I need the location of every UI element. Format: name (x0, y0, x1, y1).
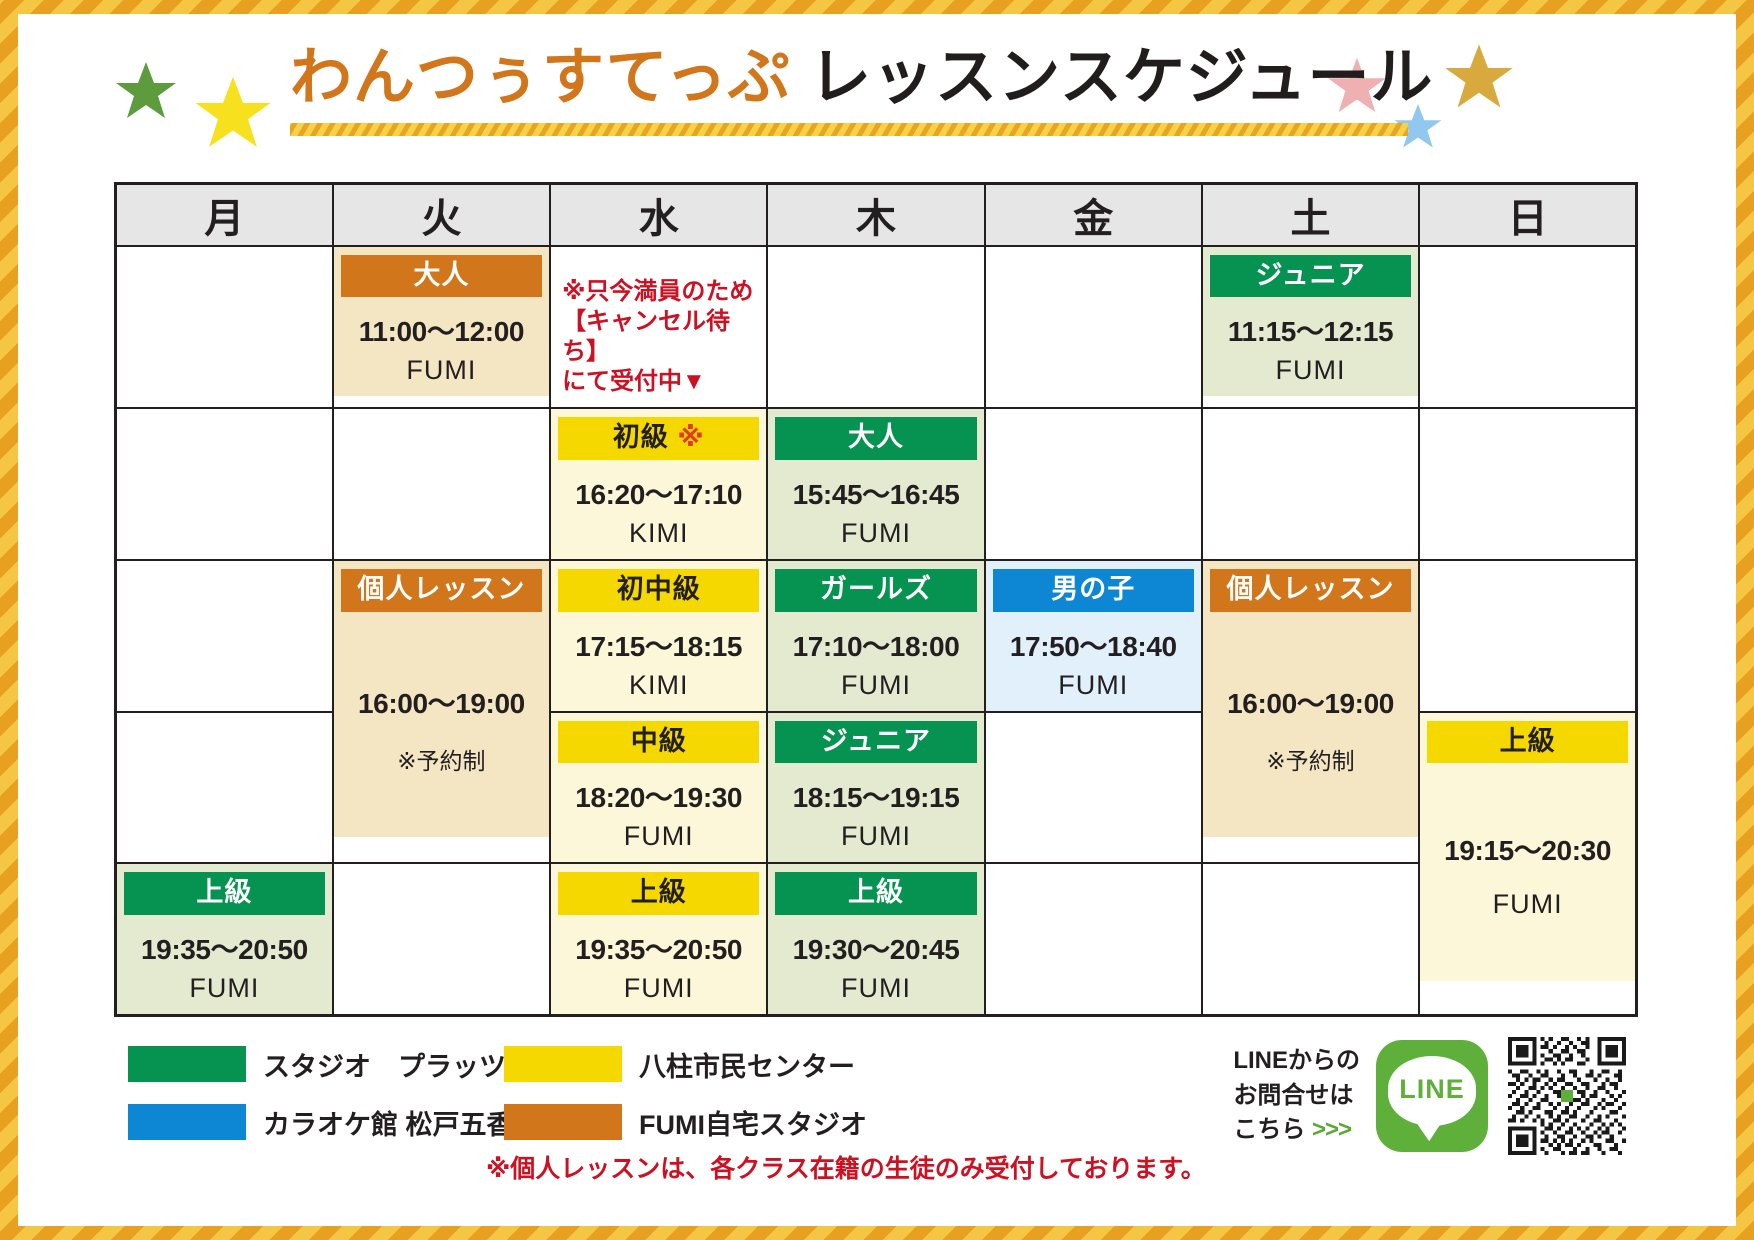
poster-header: わんつぅすてっぷ レッスンスケジュール (18, 14, 1736, 179)
class-note: ※予約制 (397, 742, 485, 776)
class-time: 17:10〜18:00 (793, 625, 960, 665)
cell-wed-4[interactable]: 中級 18:20〜19:30 FUMI (550, 712, 767, 864)
class-time: 16:00〜19:00 (1227, 682, 1394, 722)
cell-thu-4[interactable]: ジュニア 18:15〜19:15 FUMI (767, 712, 984, 864)
column-header-mon: 月 (116, 184, 333, 246)
full-capacity-notice: ※只今満員のため 【キャンセル待ち】 にて受付中▼ (558, 277, 759, 398)
class-badge: 上級 (775, 872, 976, 915)
class-badge: 上級 (1427, 721, 1628, 764)
class-time: 18:20〜19:30 (575, 776, 742, 816)
cell-wed-1: ※只今満員のため 【キャンセル待ち】 にて受付中▼ (550, 246, 767, 409)
class-badge: 初中級 (558, 569, 759, 612)
class-badge: 初級 ※ (558, 417, 759, 460)
class-teacher: FUMI (1493, 889, 1563, 920)
legend-swatch-orange (504, 1104, 622, 1140)
table-row: 初級 ※ 16:20〜17:10 KIMI 大人 15:45〜16:45 FUM… (116, 408, 1637, 560)
notice-line-2: 【キャンセル待ち】 (562, 307, 759, 367)
class-teacher: FUMI (841, 670, 911, 701)
notice-line-1: ※只今満員のため (562, 277, 759, 307)
legend-label: 八柱市民センター (639, 1045, 855, 1084)
class-time: 19:35〜20:50 (141, 928, 308, 968)
class-time: 19:35〜20:50 (575, 928, 742, 968)
cell-thu-3[interactable]: ガールズ 17:10〜18:00 FUMI (767, 560, 984, 712)
class-badge: 上級 (124, 872, 325, 915)
cell-sun-2 (1419, 408, 1636, 560)
class-badge: 中級 (558, 721, 759, 764)
class-teacher: KIMI (629, 670, 689, 701)
cell-sat-5 (1202, 863, 1419, 1015)
line-bubble-tail (1415, 1117, 1447, 1142)
class-teacher: FUMI (841, 821, 911, 852)
class-badge: 大人 (775, 417, 976, 460)
class-badge: 男の子 (993, 569, 1194, 612)
cell-thu-1 (767, 246, 984, 409)
page-title: わんつぅすてっぷ レッスンスケジュール (290, 47, 1408, 136)
class-badge: 上級 (558, 872, 759, 915)
notice-line-3: にて受付中▼ (562, 367, 759, 397)
cell-wed-3[interactable]: 初中級 17:15〜18:15 KIMI (550, 560, 767, 712)
cell-thu-2[interactable]: 大人 15:45〜16:45 FUMI (767, 408, 984, 560)
cell-sun-1 (1419, 246, 1636, 409)
cell-sun-advanced[interactable]: 上級 19:15〜20:30 FUMI (1419, 712, 1636, 1016)
class-badge: 個人レッスン (1210, 569, 1411, 612)
line-text-3: こちら (1233, 1116, 1305, 1143)
legend-label: スタジオ プラッツ (263, 1045, 506, 1084)
class-teacher: FUMI (624, 973, 694, 1004)
cell-mon-2 (116, 408, 333, 560)
cell-wed-2[interactable]: 初級 ※ 16:20〜17:10 KIMI (550, 408, 767, 560)
table-row: 上級 19:35〜20:50 FUMI 上級 19:35〜20:50 FUMI (116, 863, 1637, 1015)
legend-item-fumi-home-studio: FUMI自宅スタジオ (504, 1097, 867, 1147)
class-time: 17:50〜18:40 (1010, 625, 1177, 665)
class-badge: 大人 (341, 255, 542, 298)
class-time: 17:15〜18:15 (575, 625, 742, 665)
poster-page: わんつぅすてっぷ レッスンスケジュール 月 火 水 木 金 土 日 (18, 14, 1736, 1226)
cell-sat-2 (1202, 408, 1419, 560)
class-teacher: FUMI (841, 518, 911, 549)
class-time: 16:20〜17:10 (575, 473, 742, 513)
cell-wed-5[interactable]: 上級 19:35〜20:50 FUMI (550, 863, 767, 1015)
qr-code-icon[interactable] (1508, 1037, 1626, 1155)
column-header-sat: 土 (1202, 184, 1419, 246)
class-teacher: FUMI (1058, 670, 1128, 701)
table-row: 個人レッスン 16:00〜19:00 ※予約制 初中級 17:15〜18:15 … (116, 560, 1637, 712)
cell-sat-1[interactable]: ジュニア 11:15〜12:15 FUMI (1202, 246, 1419, 409)
class-time: 19:30〜20:45 (793, 928, 960, 968)
class-teacher: FUMI (189, 973, 259, 1004)
legend-column-right: 八柱市民センター FUMI自宅スタジオ (504, 1039, 867, 1155)
class-badge: 個人レッスン (341, 569, 542, 612)
legend-footnote: ※個人レッスンは、各クラス在籍の生徒のみ受付しております。 (486, 1149, 1206, 1185)
legend-label: カラオケ館 松戸五香店 (263, 1103, 541, 1142)
cell-sun-3 (1419, 560, 1636, 712)
cell-mon-4 (116, 712, 333, 864)
cell-tue-1[interactable]: 大人 11:00〜12:00 FUMI (333, 246, 550, 409)
class-badge: ジュニア (1210, 255, 1411, 298)
class-time: 15:45〜16:45 (793, 473, 960, 513)
line-text-2: お問合せは (1233, 1079, 1360, 1114)
cell-mon-1 (116, 246, 333, 409)
line-contact-block[interactable]: LINEからの お問合せは こちら >>> LINE (1233, 1037, 1626, 1155)
schedule-table-wrapper: 月 火 水 木 金 土 日 大人 11:00〜12:00 (114, 182, 1638, 1017)
cell-sat-private-lesson[interactable]: 個人レッスン 16:00〜19:00 ※予約制 (1202, 560, 1419, 863)
legend-swatch-blue (128, 1104, 246, 1140)
table-header-row: 月 火 水 木 金 土 日 (116, 184, 1637, 246)
legend-item-yahashira-center: 八柱市民センター (504, 1039, 867, 1089)
class-badge: ガールズ (775, 569, 976, 612)
class-teacher: FUMI (841, 973, 911, 1004)
column-header-fri: 金 (985, 184, 1202, 246)
class-time: 16:00〜19:00 (358, 682, 525, 722)
cell-fri-3[interactable]: 男の子 17:50〜18:40 FUMI (985, 560, 1202, 712)
table-row: 大人 11:00〜12:00 FUMI ※只今満員のため 【キャンセル待ち】 に… (116, 246, 1637, 409)
class-teacher: FUMI (624, 821, 694, 852)
cell-mon-5[interactable]: 上級 19:35〜20:50 FUMI (116, 863, 333, 1015)
cell-fri-2 (985, 408, 1202, 560)
class-time: 11:15〜12:15 (1228, 310, 1393, 350)
legend: スタジオ プラッツ カラオケ館 松戸五香店 八柱市民センター FUMI自宅スタジ… (114, 1035, 1638, 1205)
legend-column-left: スタジオ プラッツ カラオケ館 松戸五香店 (128, 1039, 541, 1155)
arrows-icon: >>> (1312, 1116, 1351, 1143)
cell-mon-3 (116, 560, 333, 712)
cell-tue-private-lesson[interactable]: 個人レッスン 16:00〜19:00 ※予約制 (333, 560, 550, 863)
class-time: 11:00〜12:00 (359, 310, 524, 350)
column-header-tue: 火 (333, 184, 550, 246)
legend-item-karaokekan: カラオケ館 松戸五香店 (128, 1097, 541, 1147)
class-badge: ジュニア (775, 721, 976, 764)
legend-swatch-yellow (504, 1046, 622, 1082)
title-underline (290, 123, 1408, 136)
class-time: 18:15〜19:15 (793, 776, 960, 816)
schedule-table: 月 火 水 木 金 土 日 大人 11:00〜12:00 (114, 182, 1638, 1017)
class-teacher: FUMI (406, 355, 476, 386)
line-logo-word: LINE (1376, 1074, 1488, 1105)
cell-tue-5 (333, 863, 550, 1015)
column-header-sun: 日 (1419, 184, 1636, 246)
line-text-1: LINEからの (1233, 1044, 1360, 1079)
column-header-thu: 木 (767, 184, 984, 246)
cell-tue-2 (333, 408, 550, 560)
class-teacher: FUMI (1276, 355, 1346, 386)
title-brand-text: わんつぅすてっぷ (290, 43, 791, 112)
class-teacher: KIMI (629, 518, 689, 549)
class-note: ※予約制 (1266, 742, 1354, 776)
cell-fri-4 (985, 712, 1202, 864)
class-time: 19:15〜20:30 (1444, 829, 1611, 869)
legend-label: FUMI自宅スタジオ (639, 1103, 867, 1142)
cell-fri-5 (985, 863, 1202, 1015)
line-contact-text: LINEからの お問合せは こちら >>> (1233, 1044, 1360, 1148)
title-rest-text: レッスンスケジュール (791, 43, 1434, 112)
line-logo-icon[interactable]: LINE (1376, 1040, 1488, 1152)
cell-thu-5[interactable]: 上級 19:30〜20:45 FUMI (767, 863, 984, 1015)
column-header-wed: 水 (550, 184, 767, 246)
legend-swatch-green (128, 1046, 246, 1082)
legend-item-studio-platz: スタジオ プラッツ (128, 1039, 541, 1089)
cell-fri-1 (985, 246, 1202, 409)
